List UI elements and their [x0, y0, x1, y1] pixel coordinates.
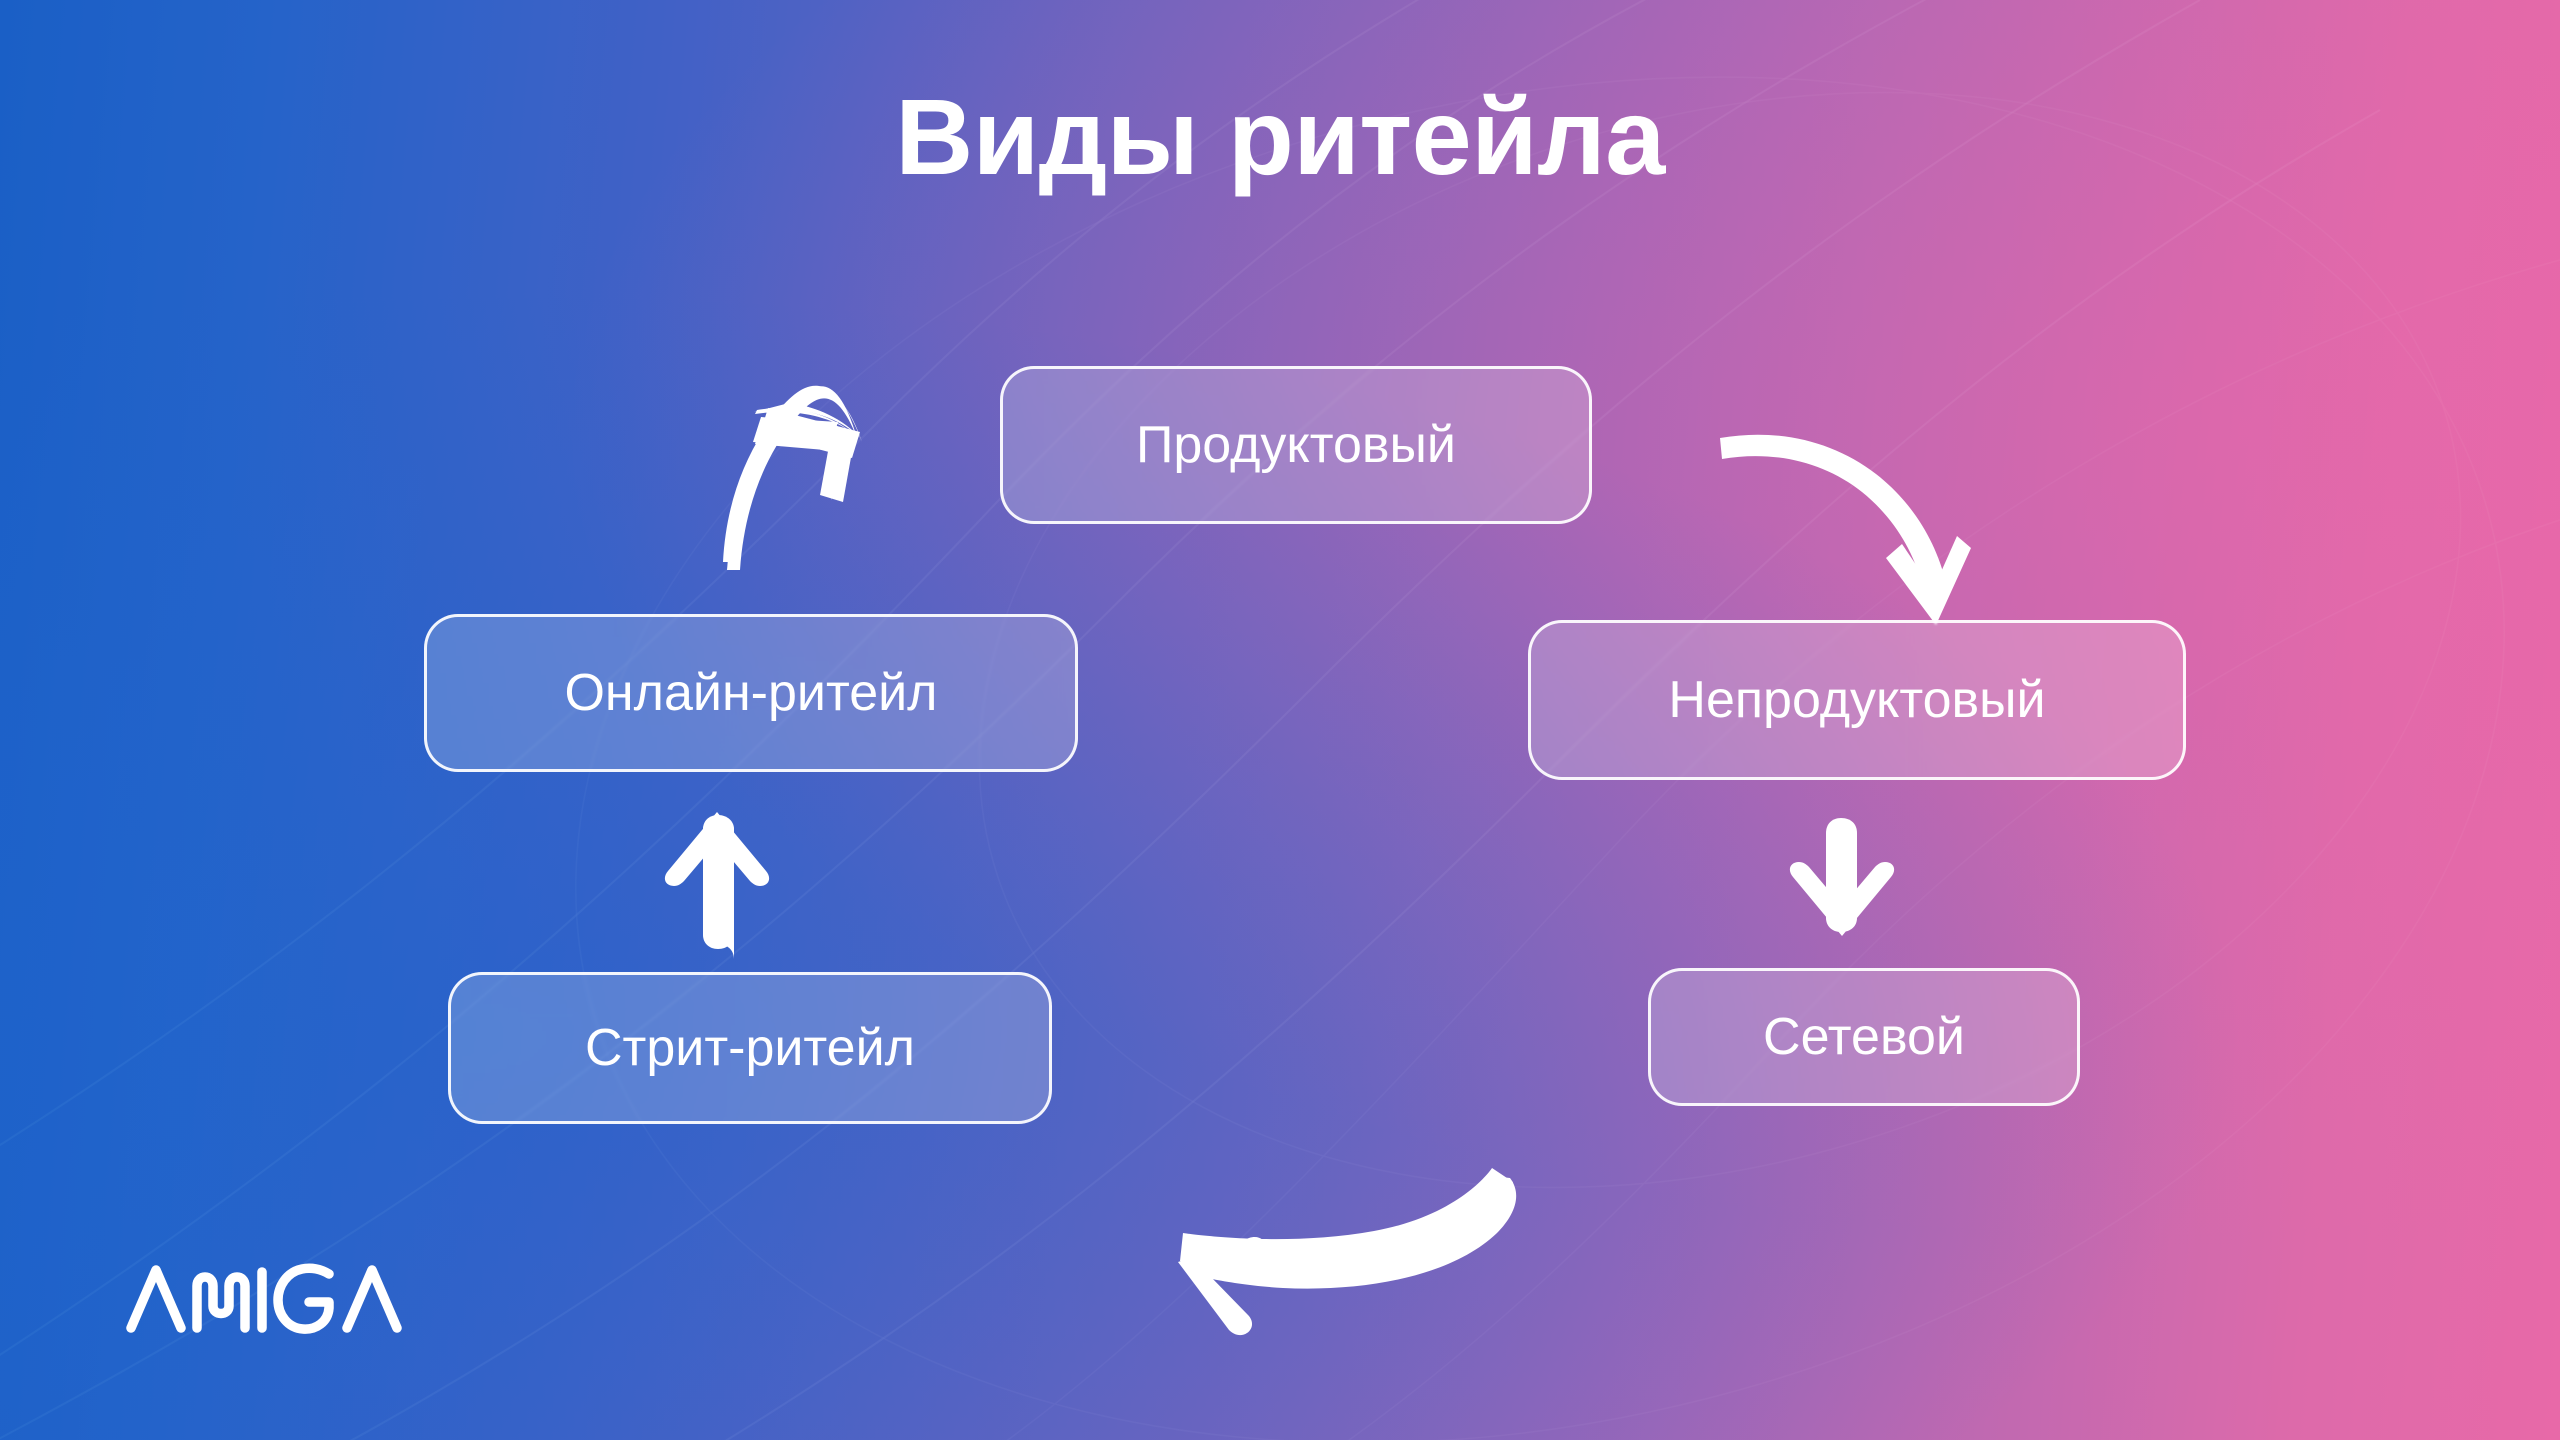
- arrow-strit-ritejl-to-onlajn-icon: [665, 812, 769, 959]
- node-neproduktovy[interactable]: Непродуктовый: [1528, 620, 2186, 780]
- arrow-setevoy-to-strit-ritejl-icon: [1178, 1168, 1516, 1335]
- node-onlajn-ritejl[interactable]: Онлайн-ритейл: [424, 614, 1078, 772]
- infographic-canvas: Виды ритейла: [0, 0, 2560, 1440]
- node-strit-ritejl[interactable]: Стрит-ритейл: [448, 972, 1052, 1124]
- arrow-produktovy-to-neproduktovy-icon: [1720, 435, 1971, 625]
- page-title: Виды ритейла: [0, 78, 2560, 197]
- node-setevoy[interactable]: Сетевой: [1648, 968, 2080, 1106]
- arrow-neproduktovy-to-setevoy-icon: [1790, 818, 1894, 936]
- node-produktovy[interactable]: Продуктовый: [1000, 366, 1592, 524]
- arrow-onlajn-to-produktovy-icon: [723, 386, 862, 570]
- amiga-logo: AMIGA: [125, 1258, 415, 1334]
